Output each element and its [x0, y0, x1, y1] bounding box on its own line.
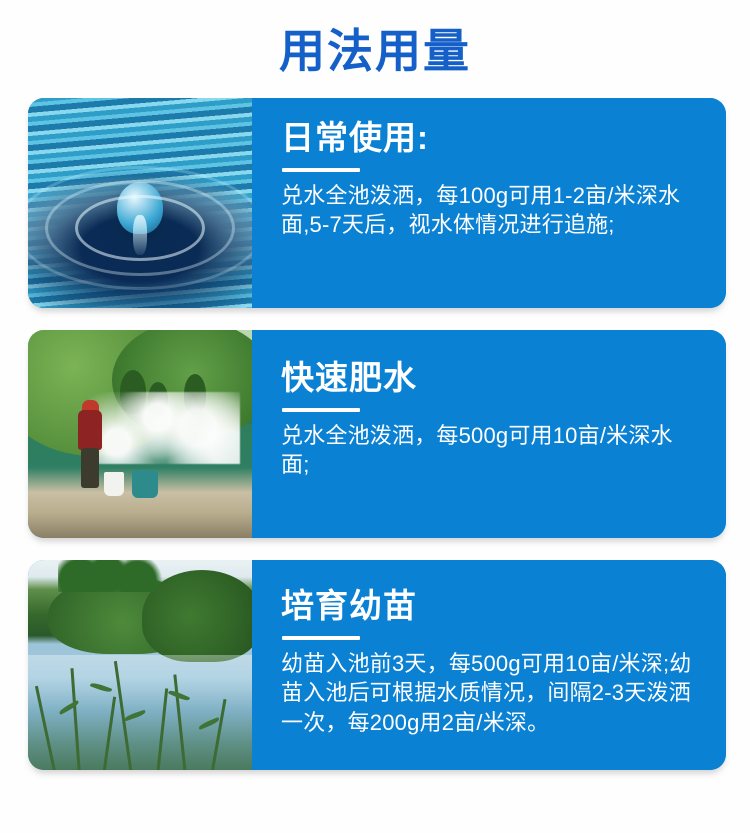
- usage-card-cultivate-fry: 培育幼苗 幼苗入池前3天，每500g可用10亩/米深;幼苗入池后可根据水质情况，…: [28, 560, 726, 770]
- card-body-text: 兑水全池泼洒，每100g可用1-2亩/米深水面,5-7天后，视水体情况进行追施;: [281, 181, 700, 241]
- water-droplet-ripple-photo: [28, 98, 252, 308]
- promo-page: 用法用量 日常使用: 兑水全池泼洒，每100g可用1-2亩/米深水面,5-7天后…: [0, 0, 750, 833]
- page-title: 用法用量: [0, 0, 750, 77]
- fertilizer-spray: [90, 392, 240, 464]
- water-reflection: [28, 655, 252, 711]
- white-bucket: [104, 472, 124, 496]
- worker-body: [78, 410, 102, 450]
- card-body-text: 兑水全池泼洒，每500g可用10亩/米深水面;: [281, 421, 700, 481]
- card-heading: 快速肥水: [281, 360, 700, 397]
- usage-card-daily-use: 日常使用: 兑水全池泼洒，每100g可用1-2亩/米深水面,5-7天后，视水体情…: [28, 98, 726, 308]
- usage-card-fast-fertilize-water: 快速肥水 兑水全池泼洒，每500g可用10亩/米深水面;: [28, 330, 726, 538]
- worker-legs: [81, 448, 99, 488]
- reed-leaf: [124, 709, 146, 721]
- card-text-panel: 培育幼苗 幼苗入池前3天，每500g可用10亩/米深;幼苗入池后可根据水质情况，…: [252, 560, 726, 770]
- card-text-panel: 日常使用: 兑水全池泼洒，每100g可用1-2亩/米深水面,5-7天后，视水体情…: [252, 98, 726, 308]
- reed-leaf: [198, 717, 220, 730]
- ripple-ring-inner: [75, 195, 205, 261]
- card-heading: 培育幼苗: [281, 588, 700, 625]
- heading-divider: [282, 636, 360, 640]
- pond-fertilizing-worker-photo: [28, 330, 252, 538]
- calm-lake-reeds-photo: [28, 560, 252, 770]
- heading-divider: [282, 408, 360, 412]
- card-body-text: 幼苗入池前3天，每500g可用10亩/米深;幼苗入池后可根据水质情况，间隔2-3…: [281, 649, 700, 739]
- card-heading: 日常使用:: [281, 120, 700, 157]
- teal-bucket: [132, 470, 158, 498]
- tree-canopy: [58, 560, 168, 592]
- card-text-panel: 快速肥水 兑水全池泼洒，每500g可用10亩/米深水面;: [252, 330, 726, 538]
- heading-divider: [282, 168, 360, 172]
- usage-cards-list: 日常使用: 兑水全池泼洒，每100g可用1-2亩/米深水面,5-7天后，视水体情…: [0, 98, 750, 770]
